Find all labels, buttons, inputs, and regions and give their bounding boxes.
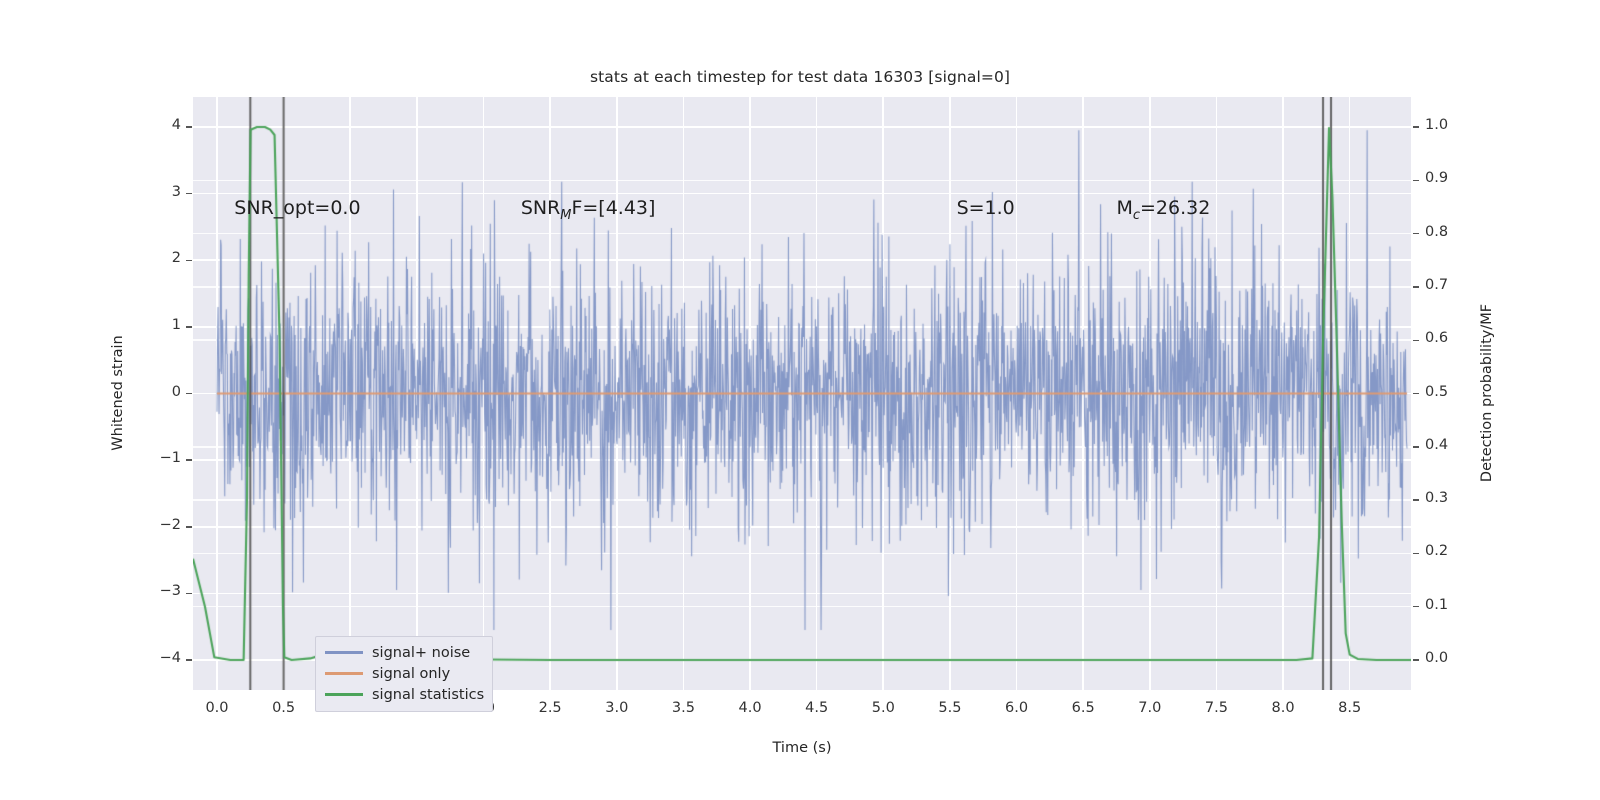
- legend-color-swatch: [325, 672, 363, 674]
- plot-axes[interactable]: SNR_opt=0.0SNRMF=[4.43]S=1.0Mc=26.32: [193, 97, 1411, 690]
- x-tick-label: 0.0: [187, 700, 247, 716]
- legend[interactable]: signal+ noisesignal onlysignal statistic…: [315, 636, 493, 712]
- annotation-signal-score: S=1.0: [957, 197, 1015, 219]
- legend-item-label: signal only: [372, 666, 450, 682]
- legend-item[interactable]: signal statistics: [322, 684, 486, 705]
- y-tick-mark-left: [186, 260, 192, 262]
- y-tick-label-left: −1: [121, 450, 181, 466]
- y-tick-label-left: 1: [121, 317, 181, 333]
- y-tick-label-right: 1.0: [1425, 117, 1485, 133]
- y-tick-mark-right: [1413, 340, 1419, 342]
- y-tick-mark-left: [186, 126, 192, 128]
- legend-item[interactable]: signal only: [322, 663, 486, 684]
- y-tick-label-right: 0.6: [1425, 330, 1485, 346]
- y-tick-label-left: 2: [121, 250, 181, 266]
- y-tick-label-right: 0.0: [1425, 650, 1485, 666]
- annotation-chirp-mass: Mc=26.32: [1116, 197, 1210, 223]
- legend-item-label: signal statistics: [372, 687, 484, 703]
- y-tick-label-right: 0.1: [1425, 597, 1485, 613]
- legend-color-swatch: [325, 651, 363, 653]
- y-tick-label-right: 0.9: [1425, 170, 1485, 186]
- x-axis-label: Time (s): [773, 740, 832, 756]
- x-tick-label: 7.0: [1120, 700, 1180, 716]
- y-tick-label-right: 0.2: [1425, 543, 1485, 559]
- legend-item[interactable]: signal+ noise: [322, 642, 486, 663]
- x-tick-label: 6.0: [987, 700, 1047, 716]
- figure-canvas: stats at each timestep for test data 163…: [0, 0, 1600, 800]
- legend-item-label: signal+ noise: [372, 645, 470, 661]
- x-tick-label: 3.5: [653, 700, 713, 716]
- y-tick-mark-right: [1413, 286, 1419, 288]
- y-tick-label-right: 0.8: [1425, 224, 1485, 240]
- y-tick-mark-left: [186, 659, 192, 661]
- x-tick-label: 6.5: [1053, 700, 1113, 716]
- x-tick-label: 3.0: [587, 700, 647, 716]
- y-tick-mark-right: [1413, 180, 1419, 182]
- y-tick-mark-right: [1413, 499, 1419, 501]
- series-signal-statistics: [193, 97, 1411, 690]
- x-tick-label: 5.0: [853, 700, 913, 716]
- x-tick-label: 4.0: [720, 700, 780, 716]
- y-tick-mark-left: [186, 593, 192, 595]
- y-tick-mark-left: [186, 459, 192, 461]
- y-tick-mark-left: [186, 326, 192, 328]
- y-tick-label-left: 4: [121, 117, 181, 133]
- y-tick-mark-left: [186, 526, 192, 528]
- y-tick-mark-right: [1413, 126, 1419, 128]
- page-title: stats at each timestep for test data 163…: [0, 68, 1600, 86]
- y-tick-mark-right: [1413, 233, 1419, 235]
- y-tick-mark-left: [186, 393, 192, 395]
- y-tick-mark-left: [186, 193, 192, 195]
- x-tick-label: 4.5: [787, 700, 847, 716]
- y-tick-label-right: 0.5: [1425, 384, 1485, 400]
- y-tick-mark-right: [1413, 659, 1419, 661]
- x-tick-label: 8.5: [1320, 700, 1380, 716]
- x-tick-label: 2.5: [520, 700, 580, 716]
- legend-color-swatch: [325, 693, 363, 695]
- y-axis-label-left: Whitened strain: [110, 335, 126, 450]
- y-tick-label-left: −2: [121, 517, 181, 533]
- y-tick-label-left: 3: [121, 184, 181, 200]
- y-tick-label-right: 0.3: [1425, 490, 1485, 506]
- y-tick-mark-right: [1413, 393, 1419, 395]
- y-tick-mark-right: [1413, 553, 1419, 555]
- y-tick-label-left: −3: [121, 583, 181, 599]
- y-tick-label-right: 0.7: [1425, 277, 1485, 293]
- y-tick-label-left: 0: [121, 384, 181, 400]
- annotation-snr-opt: SNR_opt=0.0: [234, 197, 360, 219]
- x-tick-label: 8.0: [1253, 700, 1313, 716]
- y-axis-label-right: Detection probability/MF: [1479, 304, 1495, 482]
- y-tick-mark-right: [1413, 446, 1419, 448]
- x-tick-label: 0.5: [254, 700, 314, 716]
- y-tick-label-left: −4: [121, 650, 181, 666]
- y-tick-mark-right: [1413, 606, 1419, 608]
- y-tick-label-right: 0.4: [1425, 437, 1485, 453]
- annotation-snr-mf: SNRMF=[4.43]: [521, 197, 656, 223]
- x-tick-label: 7.5: [1186, 700, 1246, 716]
- x-tick-label: 5.5: [920, 700, 980, 716]
